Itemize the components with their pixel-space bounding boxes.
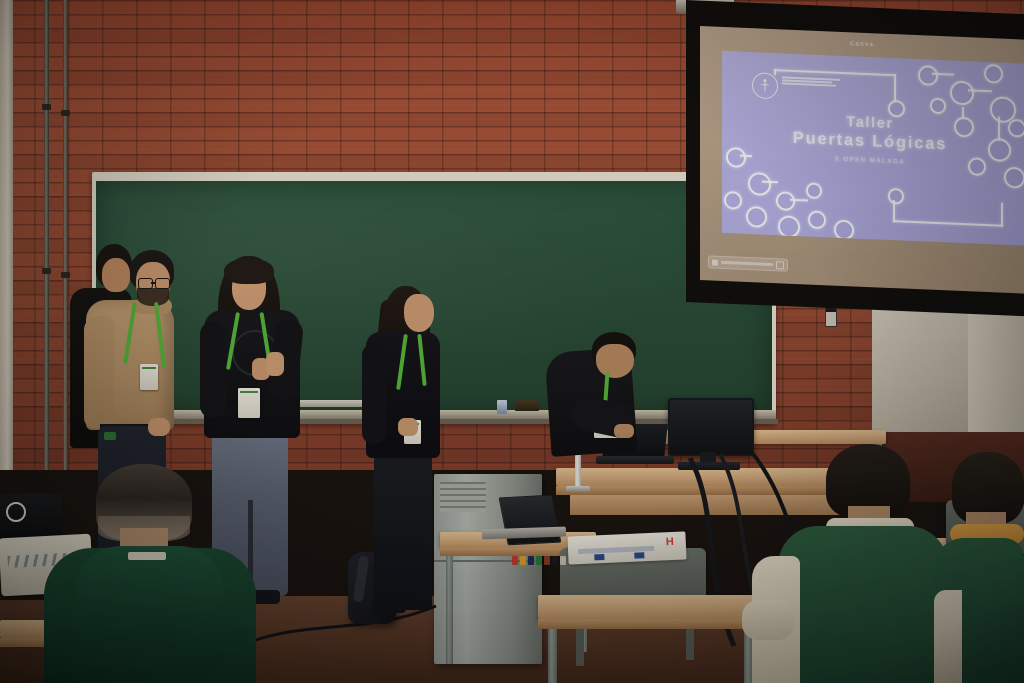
circuit-node [806,182,822,199]
arm [742,600,794,640]
circuit-node [724,191,742,210]
desk-leg [548,629,557,683]
circuit-node [918,65,938,86]
conduit-pipe [63,0,68,470]
fullscreen-icon[interactable] [776,261,784,269]
circuit-node [776,191,795,211]
arm [84,316,114,428]
papers-with-logo: H [567,531,686,564]
paper-tag [634,552,644,558]
head [404,294,434,332]
slide-title-line1: Taller [846,114,893,132]
circuit-node [888,100,905,118]
projection-screen: Canva [700,26,1024,294]
circuit-node [930,98,946,115]
shirt-sleeve [934,590,962,683]
beard [137,288,169,306]
name-badge [238,388,260,418]
circuit-trace [962,107,964,119]
hair-front [224,258,274,284]
circuit-node [746,206,767,228]
arm [362,344,386,444]
slide-title: Taller Puertas Lógicas [722,109,1018,157]
cabinet-vents [440,482,486,512]
paper-logo-mark: H [666,537,674,548]
presentation-toolbar[interactable] [708,255,788,271]
trousers [374,454,432,610]
eyeglasses-lens [155,278,170,289]
chair-logo [6,502,26,522]
toolbar-icon[interactable] [712,259,718,265]
circuit-node [984,64,1003,84]
hoodie-tag [128,552,166,560]
chalk-box [515,400,539,411]
plastic-cup [497,400,507,414]
black-chair [0,494,62,540]
circuit-trace [774,69,896,76]
head [596,344,634,378]
conduit-pipe [44,0,49,470]
classroom-photo: Canva [0,0,1024,683]
circuit-node [950,80,974,105]
circuit-node [808,211,826,230]
eyeglasses-bridge [151,282,155,284]
hand [148,418,170,436]
hand [266,352,284,376]
desktop-monitor [668,398,754,456]
foreground-desk-edge [538,619,758,629]
presentation-slide: Taller Puertas Lógicas X OPEN MÁLAGA [722,51,1024,246]
arm [200,322,226,418]
microphone-base [566,486,590,492]
name-badge [140,364,158,390]
student-green-vest-center [778,526,948,683]
circuit-node [888,188,904,205]
hand [398,418,418,436]
circuit-trace [893,200,895,222]
circuit-node [778,215,800,238]
circuit-node [748,172,771,196]
university-logo-icon [752,72,778,99]
paper-tag [594,554,604,560]
hand [614,424,634,438]
circuit-trace [1001,203,1003,227]
wall-pilaster [0,0,13,470]
logo-text-lines [782,76,844,88]
circuit-trace [894,74,896,102]
logic-gate-components [512,556,566,568]
circuit-node [834,220,854,241]
toolbar-label [721,261,773,266]
shoe [372,600,406,613]
circuit-trace [893,220,1003,227]
logo-figure-glyph [762,79,769,92]
head [102,258,130,292]
pocket-clip [104,432,116,440]
foreground-desk [538,595,758,619]
